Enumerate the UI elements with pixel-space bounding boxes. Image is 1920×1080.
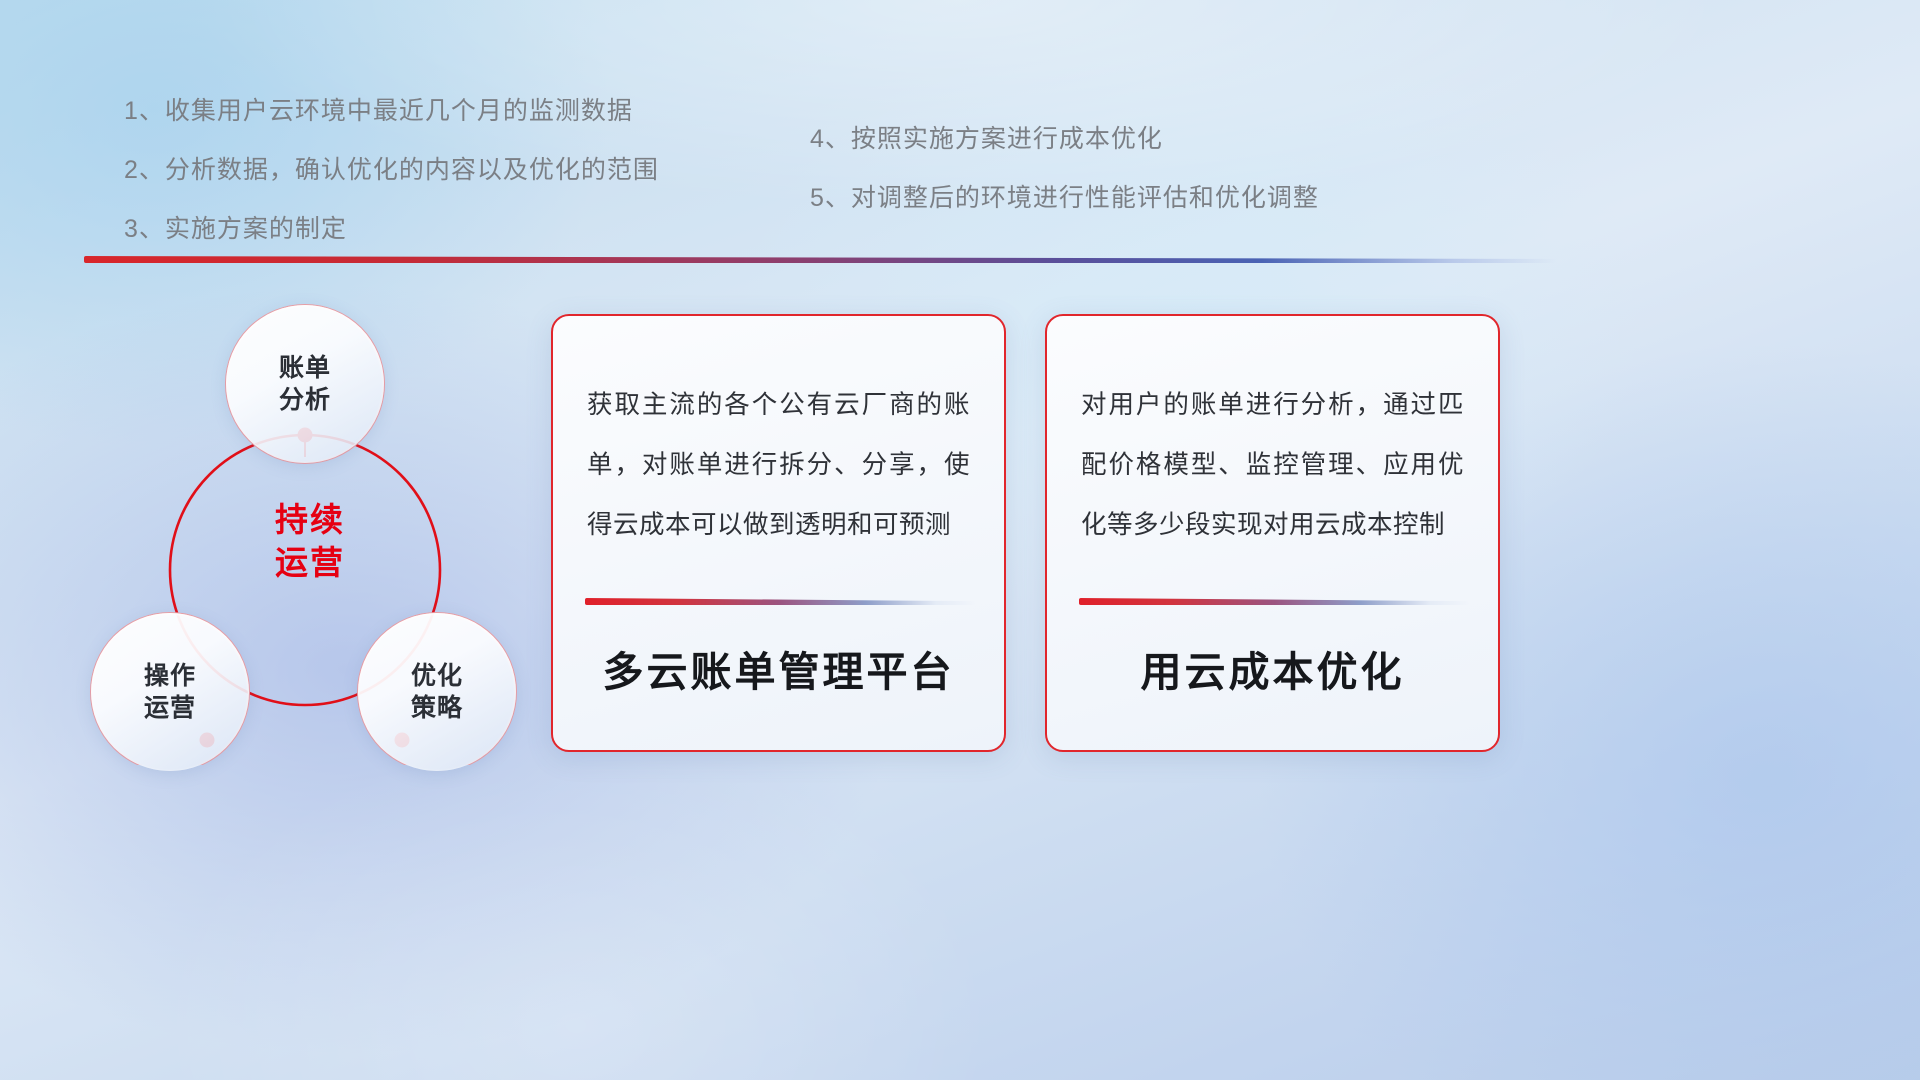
bubble-label-line2: 分析 (279, 384, 331, 416)
card-body-text: 对用户的账单进行分析，通过匹配价格模型、监控管理、应用优化等多少段实现对用云成本… (1081, 376, 1464, 556)
step-item: 3、实施方案的制定 (124, 217, 659, 242)
card-body-text: 获取主流的各个公有云厂商的账单，对账单进行拆分、分享，使得云成本可以做到透明和可… (587, 376, 970, 556)
bubble-label-line1: 优化 (411, 660, 463, 692)
venn-diagram: 账单 分析 操作 运营 优化 策略 持续 运营 (75, 285, 545, 765)
venn-bubble-billing-analysis[interactable]: 账单 分析 (226, 305, 384, 463)
card-divider-rule (1079, 598, 1469, 605)
info-card-cost-optimization[interactable]: 对用户的账单进行分析，通过匹配价格模型、监控管理、应用优化等多少段实现对用云成本… (1045, 314, 1500, 752)
header-divider-rule (84, 256, 1556, 263)
venn-bubble-optimization-strategy[interactable]: 优化 策略 (358, 613, 516, 771)
center-label-line2: 运营 (75, 542, 545, 585)
step-item: 4、按照实施方案进行成本优化 (810, 127, 1319, 152)
card-title: 用云成本优化 (1047, 638, 1498, 698)
center-label-line1: 持续 (75, 499, 545, 542)
venn-bubble-operations[interactable]: 操作 运营 (91, 613, 249, 771)
card-divider-rule (585, 598, 975, 605)
info-card-multicloud-billing[interactable]: 获取主流的各个公有云厂商的账单，对账单进行拆分、分享，使得云成本可以做到透明和可… (551, 314, 1006, 752)
bubble-label-line1: 操作 (144, 660, 196, 692)
venn-center-label: 持续 运营 (75, 499, 545, 585)
steps-column-left: 1、收集用户云环境中最近几个月的监测数据 2、分析数据，确认优化的内容以及优化的… (124, 99, 659, 276)
step-item: 5、对调整后的环境进行性能评估和优化调整 (810, 186, 1319, 211)
card-title: 多云账单管理平台 (553, 638, 1004, 698)
steps-column-right: 4、按照实施方案进行成本优化 5、对调整后的环境进行性能评估和优化调整 (810, 127, 1319, 245)
bubble-label-line1: 账单 (279, 352, 331, 384)
bubble-label-line2: 策略 (411, 692, 463, 724)
step-item: 1、收集用户云环境中最近几个月的监测数据 (124, 99, 659, 124)
bubble-label-line2: 运营 (144, 692, 196, 724)
step-item: 2、分析数据，确认优化的内容以及优化的范围 (124, 158, 659, 183)
